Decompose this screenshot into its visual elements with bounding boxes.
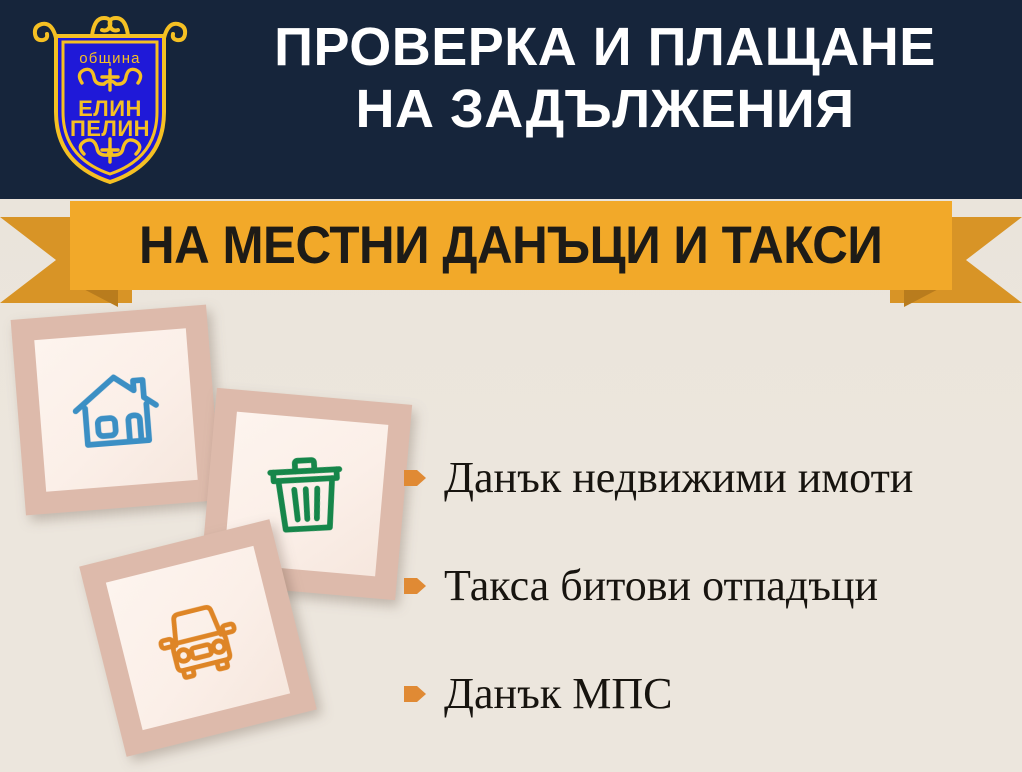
poster-canvas: община ЕЛИН ПЕЛИН ПРОВЕРКА И ПЛАЩАНЕ НА … (0, 0, 1022, 772)
svg-text:ПЕЛИН: ПЕЛИН (70, 116, 150, 141)
page-title: ПРОВЕРКА И ПЛАЩАНЕ НА ЗАДЪЛЖЕНИЯ (195, 16, 1015, 140)
list-item-label: Данък недвижими имоти (444, 453, 913, 503)
arrow-bullet-icon (402, 467, 428, 489)
page-title-line-2: НА ЗАДЪЛЖЕНИЯ (195, 78, 1015, 140)
ribbon-body: НА МЕСТНИ ДАНЪЦИ И ТАКСИ (70, 201, 952, 290)
car-icon (140, 580, 256, 696)
header-band: община ЕЛИН ПЕЛИН ПРОВЕРКА И ПЛАЩАНЕ НА … (0, 0, 1022, 199)
svg-text:община: община (79, 50, 140, 67)
list-item-label: Такса битови отпадъци (444, 561, 878, 611)
tax-type-list: Данък недвижими имоти Такса битови отпад… (402, 424, 1016, 748)
page-title-line-1: ПРОВЕРКА И ПЛАЩАНЕ (274, 17, 936, 77)
arrow-bullet-icon (402, 683, 428, 705)
list-item-label: Данък МПС (444, 669, 672, 719)
list-item: Данък недвижими имоти (402, 424, 1016, 532)
stamp-house (11, 305, 222, 516)
stamp-house-paper (34, 328, 197, 491)
list-item: Такса битови отпадъци (402, 532, 1016, 640)
arrow-bullet-icon (402, 575, 428, 597)
coat-of-arms-icon: община ЕЛИН ПЕЛИН (30, 8, 190, 190)
house-icon (64, 358, 167, 461)
ribbon-subtitle-text: НА МЕСТНИ ДАНЪЦИ И ТАКСИ (139, 215, 882, 276)
subtitle-ribbon: НА МЕСТНИ ДАНЪЦИ И ТАКСИ (0, 195, 1022, 310)
list-item: Данък МПС (402, 640, 1016, 748)
